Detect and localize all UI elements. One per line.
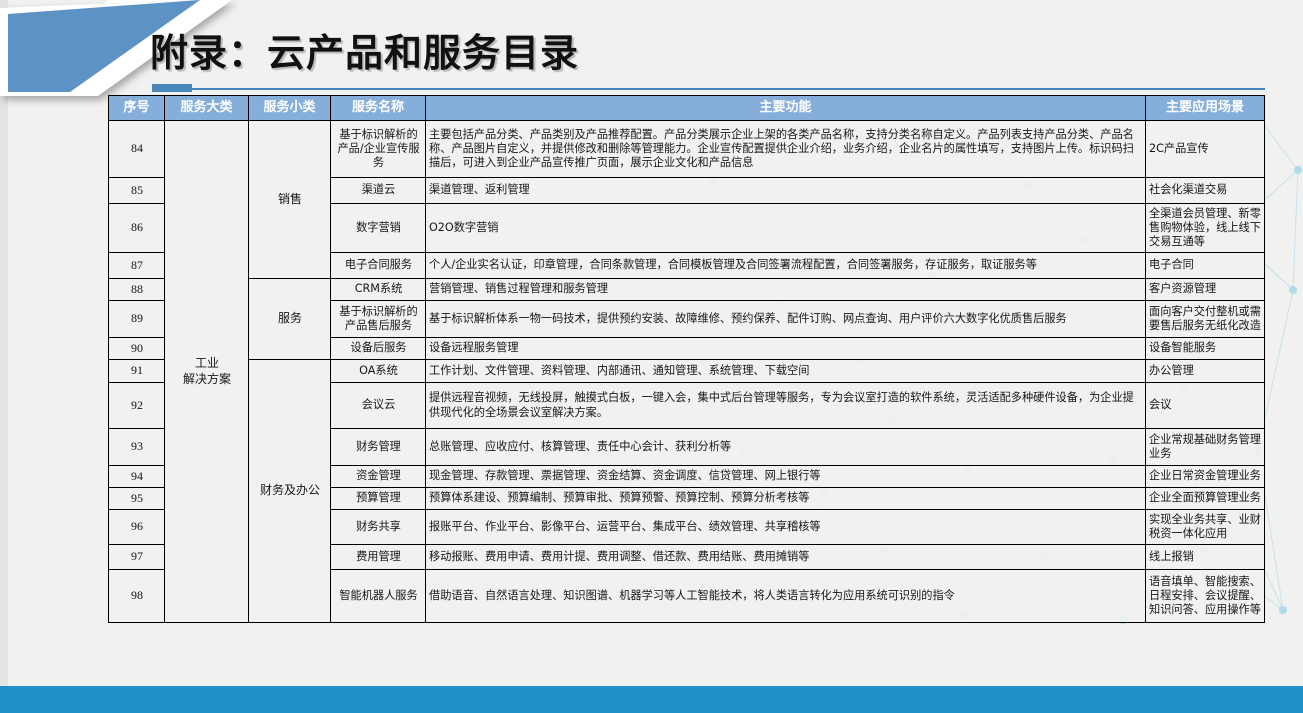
table-row: 84工业 解决方案销售基于标识解析的产品/企业宣传服务主要包括产品分类、产品类别… bbox=[109, 121, 1265, 178]
cell-no: 91 bbox=[109, 360, 165, 383]
cell-application-scene: 企业常规基础财务管理业务 bbox=[1146, 429, 1265, 466]
cell-application-scene: 客户资源管理 bbox=[1146, 279, 1265, 301]
cell-main-function: 总账管理、应收应付、核算管理、责任中心会计、获利分析等 bbox=[426, 429, 1146, 466]
table-row: 91财务及办公OA系统工作计划、文件管理、资料管理、内部通讯、通知管理、系统管理… bbox=[109, 360, 1265, 383]
table-header-row: 序号 服务大类 服务小类 服务名称 主要功能 主要应用场景 bbox=[109, 96, 1265, 121]
cell-sub-category: 服务 bbox=[249, 279, 331, 360]
cell-application-scene: 电子合同 bbox=[1146, 253, 1265, 279]
cell-no: 88 bbox=[109, 279, 165, 301]
slide-canvas: 附录：云产品和服务目录 序号 服务大类 服务小类 服务名称 主要功能 主要应用场… bbox=[0, 0, 1303, 713]
cell-main-function: 工作计划、文件管理、资料管理、内部通讯、通知管理、系统管理、下载空间 bbox=[426, 360, 1146, 383]
cell-no: 85 bbox=[109, 178, 165, 204]
col-header-scene: 主要应用场景 bbox=[1146, 96, 1265, 121]
cell-application-scene: 全渠道会员管理、新零售购物体验，线上线下交易互通等 bbox=[1146, 204, 1265, 253]
cell-application-scene: 会议 bbox=[1146, 383, 1265, 429]
table-row: 88服务CRM系统营销管理、销售过程管理和服务管理客户资源管理 bbox=[109, 279, 1265, 301]
cell-service-name: 基于标识解析的产品售后服务 bbox=[331, 301, 426, 338]
catalog-table-wrapper: 序号 服务大类 服务小类 服务名称 主要功能 主要应用场景 84工业 解决方案销… bbox=[108, 95, 1264, 623]
cell-main-function: O2O数字营销 bbox=[426, 204, 1146, 253]
title-accent-block bbox=[152, 84, 192, 92]
cell-service-name: 财务管理 bbox=[331, 429, 426, 466]
cell-no: 84 bbox=[109, 121, 165, 178]
cell-sub-category: 销售 bbox=[249, 121, 331, 279]
cell-sub-category: 财务及办公 bbox=[249, 360, 331, 623]
cell-application-scene: 办公管理 bbox=[1146, 360, 1265, 383]
cell-application-scene: 企业日常资金管理业务 bbox=[1146, 466, 1265, 488]
cell-big-category: 工业 解决方案 bbox=[165, 121, 249, 623]
cell-no: 86 bbox=[109, 204, 165, 253]
cell-no: 96 bbox=[109, 510, 165, 545]
cell-service-name: 会议云 bbox=[331, 383, 426, 429]
cell-no: 98 bbox=[109, 570, 165, 623]
footer-band bbox=[0, 686, 1303, 713]
cell-service-name: 基于标识解析的产品/企业宣传服务 bbox=[331, 121, 426, 178]
cell-service-name: CRM系统 bbox=[331, 279, 426, 301]
col-header-sub-cat: 服务小类 bbox=[249, 96, 331, 121]
cell-no: 87 bbox=[109, 253, 165, 279]
cell-service-name: 资金管理 bbox=[331, 466, 426, 488]
cell-no: 92 bbox=[109, 383, 165, 429]
cell-application-scene: 2C产品宣传 bbox=[1146, 121, 1265, 178]
cell-main-function: 基于标识解析体系一物一码技术，提供预约安装、故障维修、预约保养、配件订购、网点查… bbox=[426, 301, 1146, 338]
cell-application-scene: 语音填单、智能搜索、日程安排、会议提醒、知识问答、应用操作等 bbox=[1146, 570, 1265, 623]
cell-no: 97 bbox=[109, 545, 165, 570]
cell-service-name: 设备后服务 bbox=[331, 338, 426, 360]
cell-main-function: 设备远程服务管理 bbox=[426, 338, 1146, 360]
cell-application-scene: 面向客户交付整机或需要售后服务无纸化改造 bbox=[1146, 301, 1265, 338]
table-body: 84工业 解决方案销售基于标识解析的产品/企业宣传服务主要包括产品分类、产品类别… bbox=[109, 121, 1265, 623]
cell-no: 94 bbox=[109, 466, 165, 488]
cell-application-scene: 设备智能服务 bbox=[1146, 338, 1265, 360]
left-edge-strip bbox=[0, 0, 8, 686]
cell-main-function: 报账平台、作业平台、影像平台、运营平台、集成平台、绩效管理、共享稽核等 bbox=[426, 510, 1146, 545]
cell-service-name: 渠道云 bbox=[331, 178, 426, 204]
col-header-name: 服务名称 bbox=[331, 96, 426, 121]
cell-main-function: 预算体系建设、预算编制、预算审批、预算预警、预算控制、预算分析考核等 bbox=[426, 488, 1146, 510]
cell-no: 89 bbox=[109, 301, 165, 338]
cell-service-name: 电子合同服务 bbox=[331, 253, 426, 279]
cell-service-name: 财务共享 bbox=[331, 510, 426, 545]
cloud-product-catalog-table: 序号 服务大类 服务小类 服务名称 主要功能 主要应用场景 84工业 解决方案销… bbox=[108, 95, 1265, 623]
cell-no: 90 bbox=[109, 338, 165, 360]
cell-main-function: 借助语音、自然语言处理、知识图谱、机器学习等人工智能技术，将人类语言转化为应用系… bbox=[426, 570, 1146, 623]
cell-application-scene: 企业全面预算管理业务 bbox=[1146, 488, 1265, 510]
cell-main-function: 个人/企业实名认证，印章管理，合同条款管理，合同模板管理及合同签署流程配置，合同… bbox=[426, 253, 1146, 279]
cell-main-function: 现金管理、存款管理、票据管理、资金结算、资金调度、信贷管理、网上银行等 bbox=[426, 466, 1146, 488]
cell-application-scene: 线上报销 bbox=[1146, 545, 1265, 570]
col-header-no: 序号 bbox=[109, 96, 165, 121]
cell-application-scene: 社会化渠道交易 bbox=[1146, 178, 1265, 204]
cell-no: 93 bbox=[109, 429, 165, 466]
cell-service-name: 智能机器人服务 bbox=[331, 570, 426, 623]
col-header-function: 主要功能 bbox=[426, 96, 1146, 121]
cell-service-name: OA系统 bbox=[331, 360, 426, 383]
cell-no: 95 bbox=[109, 488, 165, 510]
page-title: 附录：云产品和服务目录 bbox=[150, 22, 579, 77]
cell-main-function: 渠道管理、返利管理 bbox=[426, 178, 1146, 204]
col-header-big-cat: 服务大类 bbox=[165, 96, 249, 121]
cell-service-name: 预算管理 bbox=[331, 488, 426, 510]
cell-main-function: 主要包括产品分类、产品类别及产品推荐配置。产品分类展示企业上架的各类产品名称，支… bbox=[426, 121, 1146, 178]
cell-application-scene: 实现全业务共享、业财税资一体化应用 bbox=[1146, 510, 1265, 545]
cell-service-name: 费用管理 bbox=[331, 545, 426, 570]
title-accent-line bbox=[152, 88, 1265, 90]
cell-main-function: 营销管理、销售过程管理和服务管理 bbox=[426, 279, 1146, 301]
cell-service-name: 数字营销 bbox=[331, 204, 426, 253]
cell-main-function: 移动报账、费用申请、费用计提、费用调整、借还款、费用结账、费用摊销等 bbox=[426, 545, 1146, 570]
cell-main-function: 提供远程音视频，无线投屏，触摸式白板，一键入会，集中式后台管理等服务，专为会议室… bbox=[426, 383, 1146, 429]
